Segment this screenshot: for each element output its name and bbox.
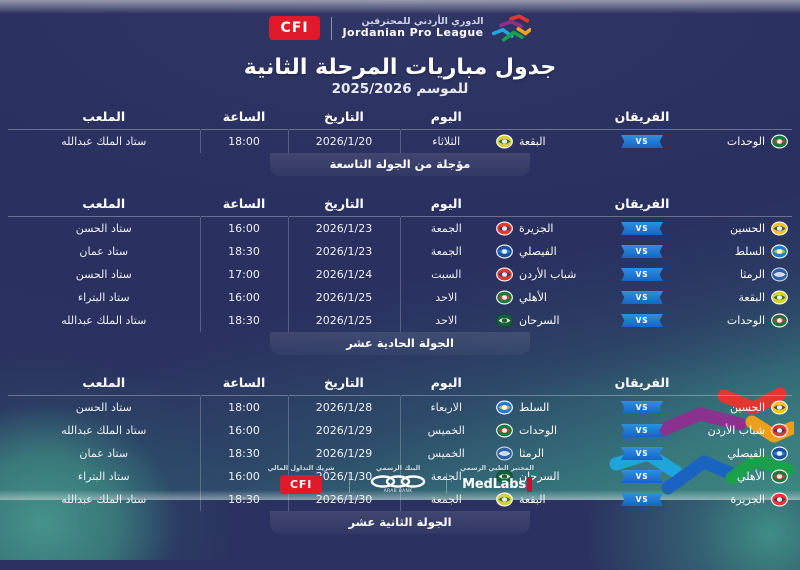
match-date: 2026/1/24 xyxy=(288,263,400,286)
sponsor-cfi-mark: CFI xyxy=(280,474,322,494)
ramtha-crest xyxy=(771,266,788,283)
match-venue: ستاد الحسن xyxy=(8,263,200,286)
home-team[interactable]: البقعة xyxy=(669,289,788,306)
match-date: 2026/1/25 xyxy=(288,309,400,332)
column-header-date: التاريخ xyxy=(288,372,400,396)
column-header-date: التاريخ xyxy=(288,106,400,130)
sarhan-crest xyxy=(496,312,513,329)
match-date: 2026/1/23 xyxy=(288,240,400,263)
column-header-day: اليوم xyxy=(400,193,492,217)
away-team[interactable]: البقعة xyxy=(496,133,615,150)
table-row[interactable]: الحسين VS الجزيرة الجمعة 2026/1/23 16:00… xyxy=(8,217,792,241)
wehdat-crest xyxy=(771,133,788,150)
table-row[interactable]: الحسين VS السلط الاربعاء 2026/1/28 18:00… xyxy=(8,396,792,420)
column-header-venue: الملعب xyxy=(8,106,200,130)
home-team[interactable]: الحسين xyxy=(669,220,788,237)
match-day: الاحد xyxy=(400,309,492,332)
match-teams-cell: الحسين VS السلط xyxy=(492,396,792,420)
match-venue: ستاد عمان xyxy=(8,442,200,465)
home-team[interactable]: الرمثا xyxy=(669,266,788,283)
match-venue: ستاد عمان xyxy=(8,240,200,263)
match-venue: ستاد الملك عبدالله xyxy=(8,309,200,332)
vs-badge: VS xyxy=(621,314,663,327)
sponsor-arabbank-mark: ARAB BANK xyxy=(370,474,426,494)
page-subtitle: للموسم 2025/2026 xyxy=(0,81,800,97)
schedule-table: الفريقان اليوم التاريخ الساعة الملعب الح… xyxy=(8,193,792,332)
sponsor-arabbank-name: ARAB BANK xyxy=(384,489,413,494)
table-row[interactable]: الفيصلي VS الرمثا الخميس 2026/1/29 18:30… xyxy=(8,442,792,465)
match-date: 2026/1/20 xyxy=(288,130,400,154)
table-body: الحسين VS الجزيرة الجمعة 2026/1/23 16:00… xyxy=(8,217,792,333)
home-team[interactable]: الحسين xyxy=(669,399,788,416)
league-logo-text: الدوري الأردني للمحترفين Jordanian Pro L… xyxy=(343,17,484,39)
home-team[interactable]: السلط xyxy=(669,243,788,260)
match-day: الخميس xyxy=(400,419,492,442)
vs-badge: VS xyxy=(621,447,663,460)
sponsor-medlabs-label: المختبر الطبي الرسمي xyxy=(460,464,534,472)
baqaa-crest xyxy=(771,289,788,306)
match-day: الاحد xyxy=(400,286,492,309)
footer-sponsors: المختبر الطبي الرسمي MedLabs البنك الرسم… xyxy=(0,464,800,494)
schedule-block: الفريقان اليوم التاريخ الساعة الملعب الح… xyxy=(8,193,792,355)
match-venue: ستاد الملك عبدالله xyxy=(8,419,200,442)
match-day: الخميس xyxy=(400,442,492,465)
match-date: 2026/1/29 xyxy=(288,419,400,442)
table-header: الفريقان اليوم التاريخ الساعة الملعب xyxy=(8,372,792,396)
salt-crest xyxy=(771,243,788,260)
away-team[interactable]: شباب الأردن xyxy=(496,266,615,283)
table-row[interactable]: البقعة VS الأهلي الاحد 2026/1/25 16:00 س… xyxy=(8,286,792,309)
league-runner-icon xyxy=(491,14,531,42)
baqaa-crest xyxy=(496,133,513,150)
match-time: 16:00 xyxy=(200,419,288,442)
away-team-name: الجزيرة xyxy=(519,222,553,235)
faisali-crest xyxy=(496,243,513,260)
match-venue: ستاد الحسن xyxy=(8,396,200,420)
page-header: الدوري الأردني للمحترفين Jordanian Pro L… xyxy=(0,0,800,97)
faisali-crest xyxy=(771,445,788,462)
match-teams-cell: الرمثا VS شباب الأردن xyxy=(492,263,792,286)
match-venue: ستاد البتراء xyxy=(8,286,200,309)
column-header-teams: الفريقان xyxy=(492,193,792,217)
match-teams-cell: الوحدات VS السرحان xyxy=(492,309,792,332)
table-row[interactable]: السلط VS الفيصلي الجمعة 2026/1/23 18:30 … xyxy=(8,240,792,263)
match-date: 2026/1/28 xyxy=(288,396,400,420)
match-venue: ستاد الحسن xyxy=(8,217,200,241)
home-team-name: شباب الأردن xyxy=(708,424,765,437)
vs-badge: VS xyxy=(621,135,663,148)
column-header-day: اليوم xyxy=(400,372,492,396)
home-team-name: الحسين xyxy=(730,222,765,235)
home-team[interactable]: شباب الأردن xyxy=(669,422,788,439)
wehdat-crest xyxy=(496,422,513,439)
vs-badge: VS xyxy=(621,222,663,235)
column-header-venue: الملعب xyxy=(8,372,200,396)
footer-divider-2 xyxy=(349,473,350,493)
away-team[interactable]: الرمثا xyxy=(496,445,615,462)
column-header-teams: الفريقان xyxy=(492,372,792,396)
table-row[interactable]: شباب الأردن VS الوحدات الخميس 2026/1/29 … xyxy=(8,419,792,442)
sponsor-cfi: شريك التداول المالي CFI xyxy=(253,464,349,494)
match-venue: ستاد الملك عبدالله xyxy=(8,130,200,154)
vs-badge: VS xyxy=(621,291,663,304)
round-caption: مؤجلة من الجولة التاسعة xyxy=(270,153,530,176)
sponsor-cfi-name: CFI xyxy=(280,475,322,494)
home-team-name: البقعة xyxy=(739,291,766,304)
away-team[interactable]: الوحدات xyxy=(496,422,615,439)
sponsor-medlabs: المختبر الطبي الرسمي MedLabs xyxy=(447,464,547,494)
home-team-name: الوحدات xyxy=(727,314,765,327)
table-header: الفريقان اليوم التاريخ الساعة الملعب xyxy=(8,106,792,130)
hussein-crest xyxy=(771,220,788,237)
vs-badge: VS xyxy=(621,268,663,281)
match-date: 2026/1/29 xyxy=(288,442,400,465)
schedule-block: الفريقان اليوم التاريخ الساعة الملعب الح… xyxy=(8,372,792,534)
match-day: الاربعاء xyxy=(400,396,492,420)
footer-divider-1 xyxy=(446,473,447,493)
round-caption: الجولة الثانية عشر xyxy=(270,511,530,534)
match-date: 2026/1/23 xyxy=(288,217,400,241)
away-team[interactable]: الفيصلي xyxy=(496,243,615,260)
match-teams-cell: الوحدات VS البقعة xyxy=(492,130,792,154)
match-day: الثلاثاء xyxy=(400,130,492,154)
match-time: 16:00 xyxy=(200,217,288,241)
match-time: 18:30 xyxy=(200,309,288,332)
match-day: السبت xyxy=(400,263,492,286)
column-header-day: اليوم xyxy=(400,106,492,130)
sponsor-cfi-label: شريك التداول المالي xyxy=(268,464,335,472)
match-time: 18:00 xyxy=(200,130,288,154)
match-time: 18:30 xyxy=(200,240,288,263)
match-time: 16:00 xyxy=(200,286,288,309)
sponsor-arabbank-label: البنك الرسمي xyxy=(376,464,420,472)
away-team-name: الوحدات xyxy=(519,424,557,437)
match-date: 2026/1/25 xyxy=(288,286,400,309)
schedule-block: الفريقان اليوم التاريخ الساعة الملعب الو… xyxy=(8,106,792,176)
subtitle-prefix: للموسم xyxy=(416,81,468,97)
match-teams-cell: شباب الأردن VS الوحدات xyxy=(492,419,792,442)
medlabs-bar-icon xyxy=(527,477,532,492)
table-body: الوحدات VS البقعة الثلاثاء 2026/1/20 18:… xyxy=(8,130,792,154)
salt-crest xyxy=(496,399,513,416)
cfi-sponsor-badge: CFI xyxy=(269,16,319,40)
match-time: 17:00 xyxy=(200,263,288,286)
home-team-name: الوحدات xyxy=(727,135,765,148)
round-caption: الجولة الحادية عشر xyxy=(270,332,530,355)
match-teams-cell: البقعة VS الأهلي xyxy=(492,286,792,309)
away-team[interactable]: الأهلي xyxy=(496,289,615,306)
page-title: جدول مباريات المرحلة الثانية xyxy=(0,55,800,80)
column-header-time: الساعة xyxy=(200,106,288,130)
away-team-name: السلط xyxy=(519,401,549,414)
column-header-time: الساعة xyxy=(200,372,288,396)
season-value: 2025/2026 xyxy=(332,81,412,97)
match-day: الجمعة xyxy=(400,240,492,263)
ahli-crest xyxy=(496,289,513,306)
home-team-name: الحسين xyxy=(730,401,765,414)
away-team-name: الرمثا xyxy=(519,447,544,460)
home-team-name: السلط xyxy=(735,245,765,258)
sponsor-medlabs-mark: MedLabs xyxy=(462,474,532,494)
away-team-name: الأهلي xyxy=(519,291,547,304)
home-team-name: الرمثا xyxy=(740,268,765,281)
brand-bar: الدوري الأردني للمحترفين Jordanian Pro L… xyxy=(0,11,800,45)
home-team-name: الفيصلي xyxy=(727,447,765,460)
home-team[interactable]: الفيصلي xyxy=(669,445,788,462)
table-row[interactable]: الرمثا VS شباب الأردن السبت 2026/1/24 17… xyxy=(8,263,792,286)
sponsor-arabbank: البنك الرسمي ARAB BANK xyxy=(350,464,446,494)
match-day: الجمعة xyxy=(400,217,492,241)
league-logo: الدوري الأردني للمحترفين Jordanian Pro L… xyxy=(343,14,531,42)
away-team-name: شباب الأردن xyxy=(519,268,576,281)
vs-badge: VS xyxy=(621,424,663,437)
away-team-name: الفيصلي xyxy=(519,245,557,258)
match-time: 18:00 xyxy=(200,396,288,420)
home-team[interactable]: الوحدات xyxy=(669,312,788,329)
away-team-name: السرحان xyxy=(519,314,560,327)
schedule-table: الفريقان اليوم التاريخ الساعة الملعب الو… xyxy=(8,106,792,153)
column-header-time: الساعة xyxy=(200,193,288,217)
arabbank-chain-icon xyxy=(370,475,426,488)
wehdat-crest xyxy=(771,312,788,329)
shabab-alurdun-crest xyxy=(771,422,788,439)
table-row[interactable]: الوحدات VS البقعة الثلاثاء 2026/1/20 18:… xyxy=(8,130,792,154)
vs-badge: VS xyxy=(621,245,663,258)
table-header: الفريقان اليوم التاريخ الساعة الملعب xyxy=(8,193,792,217)
match-time: 18:30 xyxy=(200,442,288,465)
match-teams-cell: الحسين VS الجزيرة xyxy=(492,217,792,241)
hussein-crest xyxy=(771,399,788,416)
league-name-english: Jordanian Pro League xyxy=(343,27,484,39)
away-team-name: البقعة xyxy=(519,135,546,148)
home-team[interactable]: الوحدات xyxy=(669,133,788,150)
match-teams-cell: السلط VS الفيصلي xyxy=(492,240,792,263)
sponsor-medlabs-name: MedLabs xyxy=(462,477,526,492)
away-team[interactable]: السرحان xyxy=(496,312,615,329)
column-header-date: التاريخ xyxy=(288,193,400,217)
ramtha-crest xyxy=(496,445,513,462)
table-row[interactable]: الوحدات VS السرحان الاحد 2026/1/25 18:30… xyxy=(8,309,792,332)
vs-badge: VS xyxy=(621,401,663,414)
column-header-venue: الملعب xyxy=(8,193,200,217)
column-header-teams: الفريقان xyxy=(492,106,792,130)
brand-divider xyxy=(331,17,332,40)
match-teams-cell: الفيصلي VS الرمثا xyxy=(492,442,792,465)
jazeera-crest xyxy=(496,220,513,237)
away-team[interactable]: السلط xyxy=(496,399,615,416)
away-team[interactable]: الجزيرة xyxy=(496,220,615,237)
shabab-alurdun-crest xyxy=(496,266,513,283)
